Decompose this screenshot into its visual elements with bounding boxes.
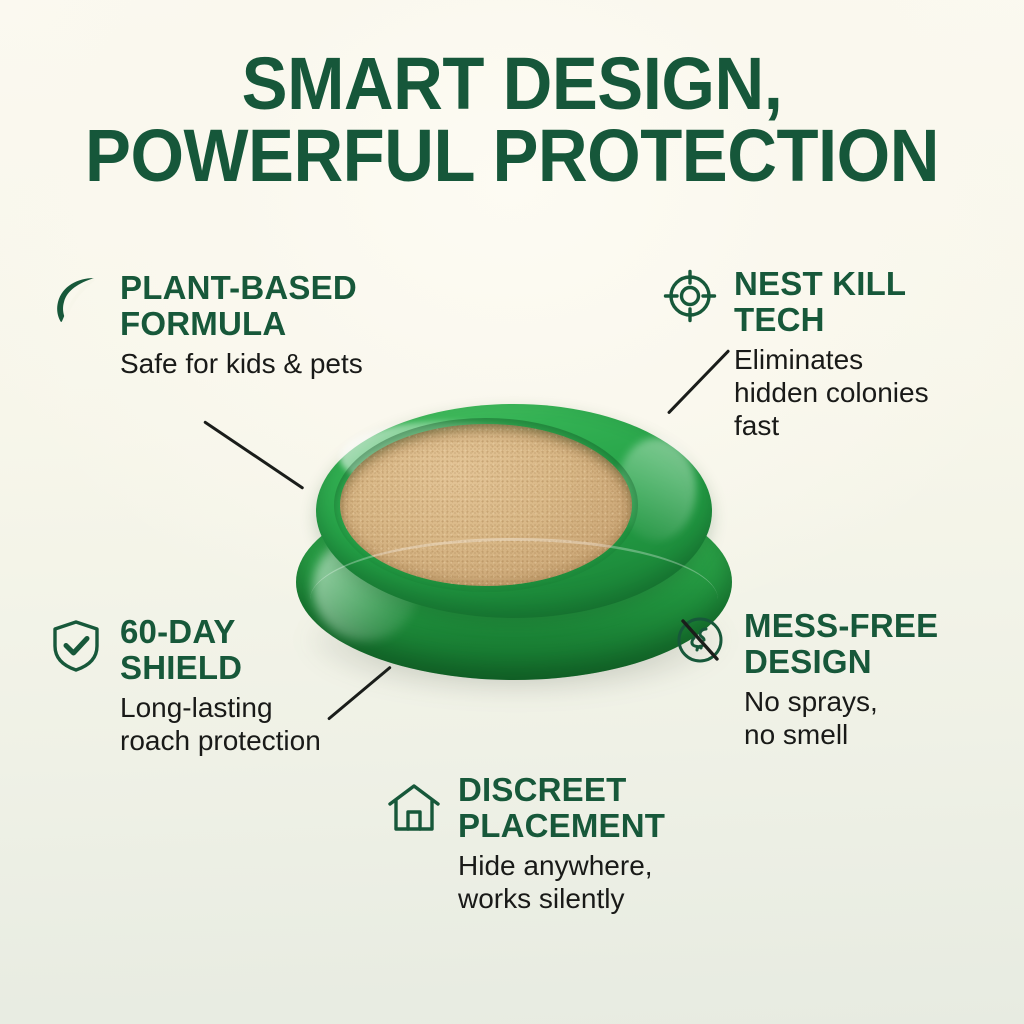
feature-nest-kill-tech: NEST KILL TECH Eliminates hidden colonie… [662,264,1014,443]
feature-title: DISCREET PLACEMENT [458,772,665,843]
feature-description: No sprays, no smell [744,686,938,752]
feature-60-day-shield: 60-DAY SHIELD Long-lasting roach protect… [48,614,388,758]
feature-description: Eliminates hidden colonies fast [734,344,929,442]
bait-texture [340,424,632,586]
shield-check-icon [48,618,104,674]
feature-description: Safe for kids & pets [120,348,363,381]
feature-title: PLANT-BASED FORMULA [120,270,363,341]
feature-discreet-placement: DISCREET PLACEMENT Hide anywhere, works … [386,772,736,916]
feature-title: 60-DAY SHIELD [120,614,321,685]
leaf-icon [48,272,104,328]
feature-plant-based-formula: PLANT-BASED FORMULA Safe for kids & pets [48,268,478,381]
product-infographic: SMART DESIGN, POWERFUL PROTECTION PLANT-… [0,0,1024,1024]
no-spray-icon [672,612,728,668]
feature-mess-free-design: MESS-FREE DESIGN No sprays, no smell [672,608,1002,752]
feature-description: Hide anywhere, works silently [458,850,665,916]
feature-title: NEST KILL TECH [734,266,929,337]
page-title: SMART DESIGN, POWERFUL PROTECTION [36,48,988,192]
crosshair-target-icon [662,268,718,324]
bait-granules [340,424,632,586]
house-icon [386,780,442,836]
feature-title: MESS-FREE DESIGN [744,608,938,679]
feature-description: Long-lasting roach protection [120,692,321,758]
